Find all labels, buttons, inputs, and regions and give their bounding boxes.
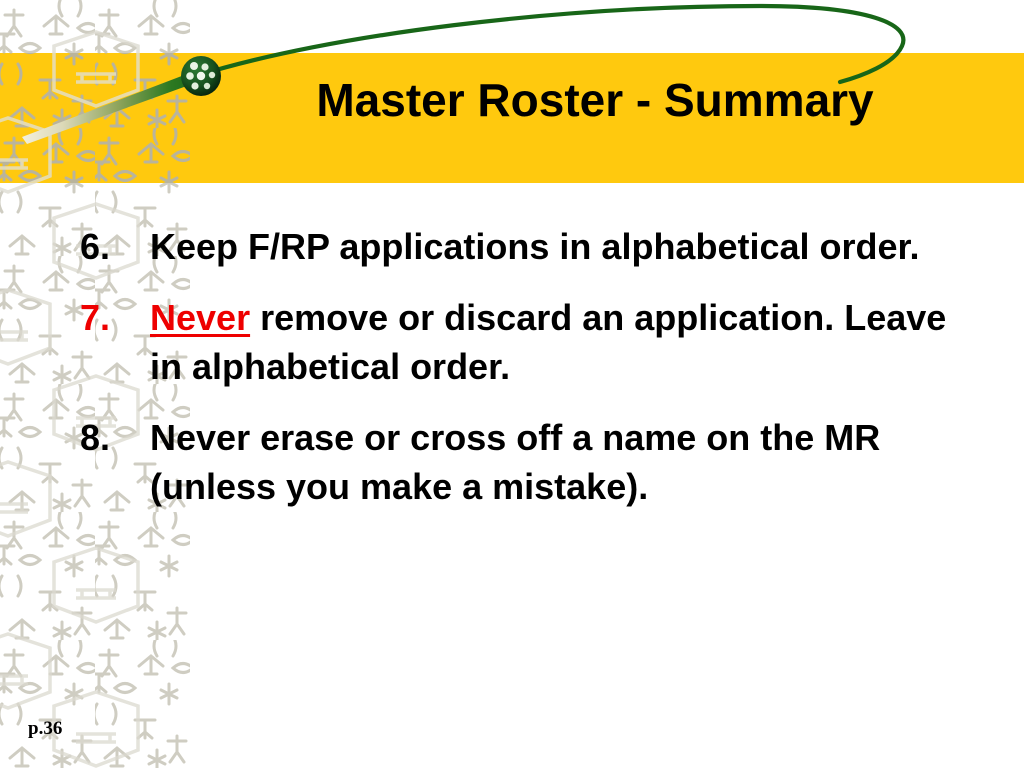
list-item: 6.Keep F/RP applications in alphabetical… [80, 222, 980, 271]
pattern-over-banner [0, 53, 190, 183]
text-segment: remove or discard an application. Leave … [150, 297, 946, 387]
list-item: 8.Never erase or cross off a name on the… [80, 413, 980, 511]
never-keyword: Never [150, 297, 250, 338]
text-segment: Keep F/RP applications in alphabetical o… [150, 226, 920, 267]
numbered-list: 6.Keep F/RP applications in alphabetical… [80, 222, 980, 533]
slide-canvas: Master Roster - Summary 6.Keep F/RP appl… [0, 0, 1024, 768]
list-item: 7.Never remove or discard an application… [80, 293, 980, 391]
green-sphere-bullet-icon [180, 55, 222, 97]
list-item-number: 8. [80, 413, 150, 462]
page-number: p.36 [28, 718, 62, 740]
list-item-text: Never remove or discard an application. … [150, 293, 950, 391]
text-segment: Never erase or cross off a name on the M… [150, 417, 880, 507]
list-item-number: 7. [80, 293, 150, 342]
list-item-text: Never erase or cross off a name on the M… [150, 413, 950, 511]
list-item-number: 6. [80, 222, 150, 271]
page-title: Master Roster - Summary [190, 72, 1000, 128]
list-item-text: Keep F/RP applications in alphabetical o… [150, 222, 950, 271]
